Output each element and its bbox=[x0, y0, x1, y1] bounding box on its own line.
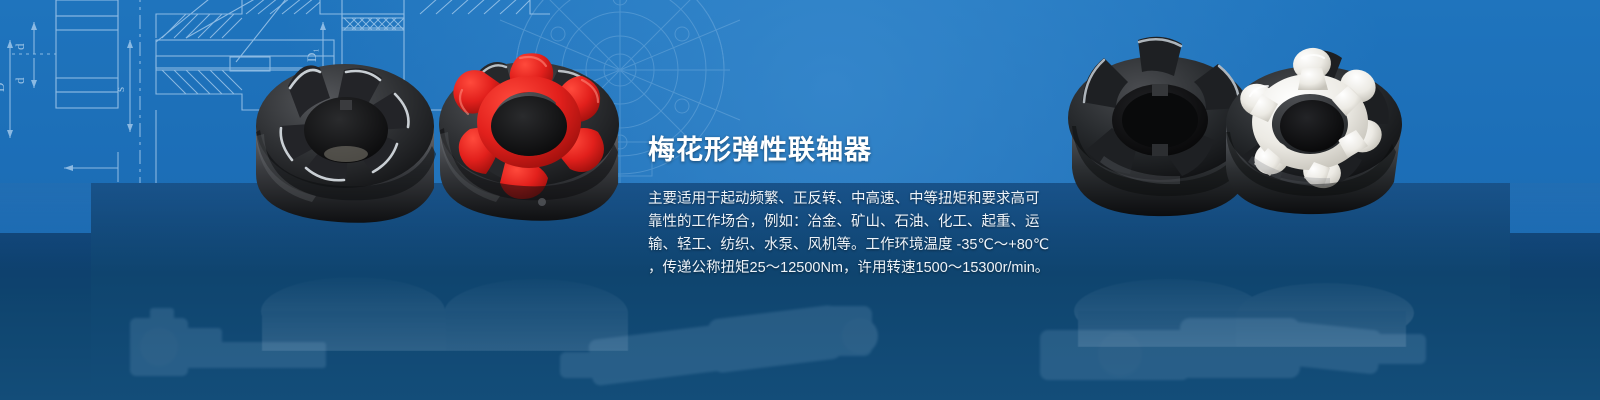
description-line-2: 靠性的工作场合，例如：冶金、矿山、石油、化工、起重、运 bbox=[648, 211, 1048, 234]
panel-segment-right bbox=[1510, 233, 1600, 400]
panel-segment-left bbox=[0, 233, 91, 400]
description-line-1: 主要适用于起动频繁、正反转、中高速、中等扭矩和要求高可 bbox=[648, 188, 1048, 211]
coupling-red-spider bbox=[439, 53, 619, 221]
coupling-black-hub bbox=[256, 64, 436, 223]
product-banner: L L L₀ D₁ D s d d bbox=[0, 0, 1600, 400]
coupling-white-spider bbox=[1226, 46, 1402, 215]
product-coupling-right-pair bbox=[1038, 18, 1418, 240]
product-coupling-left-pair bbox=[228, 14, 628, 244]
reflection-coupling-left bbox=[236, 236, 636, 351]
banner-description: 主要适用于起动频繁、正反转、中高速、中等扭矩和要求高可 靠性的工作场合，例如：冶… bbox=[648, 188, 1048, 280]
coupling-black-pair bbox=[1068, 37, 1252, 216]
description-line-3: 输、轻工、纺织、水泵、风机等。工作环境温度 -35℃～+80℃ bbox=[648, 234, 1048, 257]
banner-copy: 梅花形弹性联轴器 主要适用于起动频繁、正反转、中高速、中等扭矩和要求高可 靠性的… bbox=[648, 136, 1048, 280]
description-line-4: ，传递公称扭矩25～12500Nm，许用转速1500～15300r/min。 bbox=[648, 257, 1048, 280]
page-title: 梅花形弹性联轴器 bbox=[648, 136, 1048, 166]
reflection-coupling-right bbox=[1046, 232, 1426, 347]
